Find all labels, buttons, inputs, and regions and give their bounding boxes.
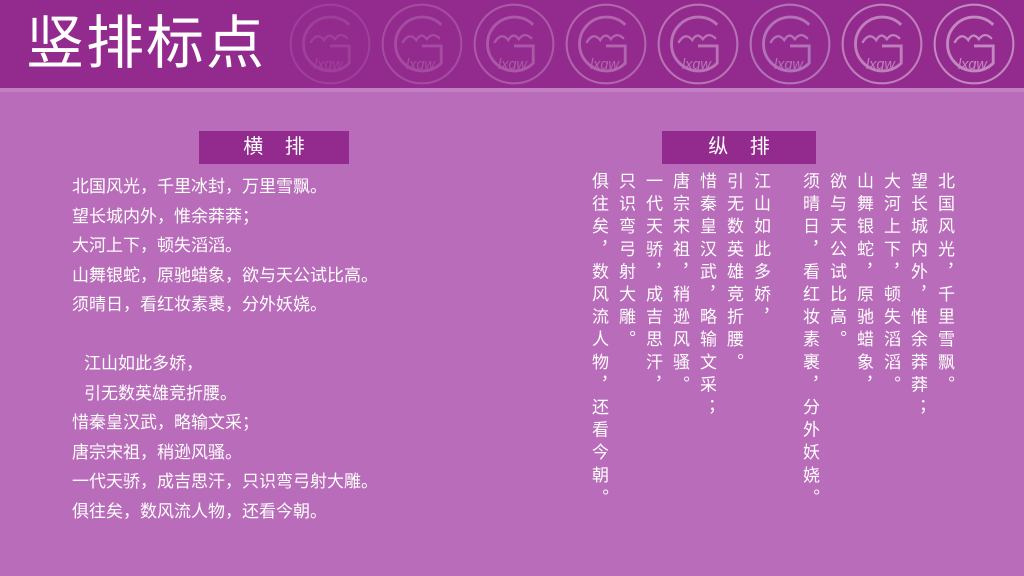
horizontal-line: 望长城内外，惟余莽莽； (72, 202, 502, 232)
vertical-stanza-one: 北国风光，千里雪飘。 望长城内外，惟余莽莽； 大河上下，顿失滔滔。 山舞银蛇，原… (796, 172, 958, 514)
slide-header: lxgw. lxgw. lxgw. (0, 0, 1024, 88)
horizontal-line: 北国风光，千里冰封，万里雪飘。 (72, 172, 502, 202)
horizontal-text-panel: 北国风光，千里冰封，万里雪飘。 望长城内外，惟余莽莽； 大河上下，顿失滔滔。 山… (72, 172, 502, 526)
section-chip-horizontal: 横 排 (199, 131, 349, 164)
header-underline-divider (0, 88, 1024, 92)
vertical-column: 大河上下，顿失滔滔。 (877, 172, 904, 514)
lxgw-circle-logo-icon: lxgw. (466, 0, 562, 88)
svg-text:lxgw.: lxgw. (314, 57, 346, 73)
page-title: 竖排标点 (26, 6, 266, 82)
svg-text:lxgw.: lxgw. (406, 57, 438, 73)
horizontal-line: 江山如此多娇， (72, 349, 502, 379)
vertical-column: 唐宗宋祖，稍逊风骚。 (666, 172, 693, 514)
vertical-column: 只识弯弓射大雕。 (612, 172, 639, 514)
vertical-column: 山舞银蛇，原驰蜡象， (850, 172, 877, 514)
lxgw-circle-logo-icon: lxgw. (282, 0, 378, 88)
vertical-stanza-two: 江山如此多娇， 引无数英雄竞折腰。 惜秦皇汉武，略输文采； 唐宗宋祖，稍逊风骚。… (585, 172, 774, 514)
vertical-column: 俱往矣，数风流人物，还看今朝。 (585, 172, 612, 514)
horizontal-line: 山舞银蛇，原驰蜡象，欲与天公试比高。 (72, 261, 502, 291)
vertical-column: 江山如此多娇， (747, 172, 774, 514)
vertical-column: 欲与天公试比高。 (823, 172, 850, 514)
slide-canvas: lxgw. lxgw. lxgw. (0, 0, 1024, 576)
lxgw-circle-logo-icon: lxgw. (834, 0, 930, 88)
svg-text:lxgw.: lxgw. (958, 57, 990, 73)
horizontal-line: 引无数英雄竞折腰。 (72, 379, 502, 409)
vertical-text-panel: 北国风光，千里雪飘。 望长城内外，惟余莽莽； 大河上下，顿失滔滔。 山舞银蛇，原… (585, 172, 958, 514)
lxgw-circle-logo-icon: lxgw. (926, 0, 1022, 88)
horizontal-line: 一代天骄，成吉思汗，只识弯弓射大雕。 (72, 467, 502, 497)
section-chip-vertical: 纵 排 (662, 131, 816, 164)
horizontal-line: 惜秦皇汉武，略输文采； (72, 408, 502, 438)
svg-text:lxgw.: lxgw. (498, 57, 530, 73)
horizontal-line: 俱往矣，数风流人物，还看今朝。 (72, 497, 502, 527)
lxgw-circle-logo-icon: lxgw. (650, 0, 746, 88)
lxgw-circle-logo-icon: lxgw. (374, 0, 470, 88)
horizontal-line: 须晴日，看红妆素裹，分外妖娆。 (72, 290, 502, 320)
vertical-column: 须晴日，看红妆素裹，分外妖娆。 (796, 172, 823, 514)
horizontal-line: 唐宗宋祖，稍逊风骚。 (72, 438, 502, 468)
vertical-column: 惜秦皇汉武，略输文采； (693, 172, 720, 514)
horizontal-line-spacer (72, 320, 502, 350)
svg-text:lxgw.: lxgw. (590, 57, 622, 73)
watermark-strip: lxgw. lxgw. lxgw. (282, 0, 1024, 88)
lxgw-circle-logo-icon: lxgw. (558, 0, 654, 88)
vertical-column: 一代天骄，成吉思汗， (639, 172, 666, 514)
svg-text:lxgw.: lxgw. (866, 57, 898, 73)
vertical-column: 北国风光，千里雪飘。 (931, 172, 958, 514)
lxgw-circle-logo-icon: lxgw. (742, 0, 838, 88)
horizontal-line: 大河上下，顿失滔滔。 (72, 231, 502, 261)
vertical-column: 望长城内外，惟余莽莽； (904, 172, 931, 514)
svg-text:lxgw.: lxgw. (682, 57, 714, 73)
svg-text:lxgw.: lxgw. (774, 57, 806, 73)
vertical-column: 引无数英雄竞折腰。 (720, 172, 747, 514)
